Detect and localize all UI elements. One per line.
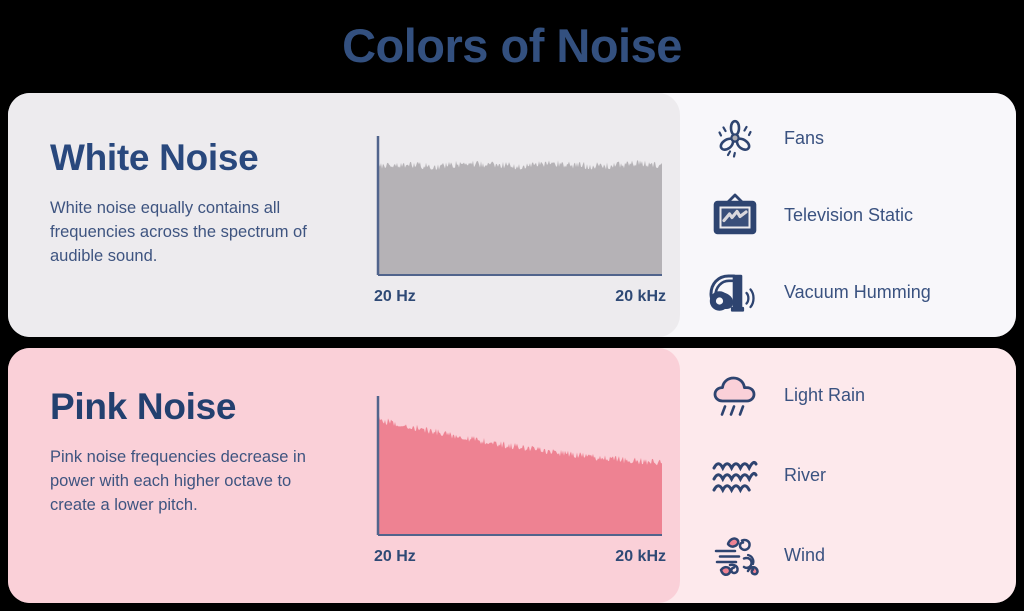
- white-noise-axis-min: 20 Hz: [374, 288, 416, 306]
- pink-noise-text-block: Pink Noise Pink noise frequencies decrea…: [50, 386, 330, 518]
- waves-icon: [698, 448, 772, 504]
- pink-noise-chart: 20 Hz 20 kHz: [374, 394, 666, 566]
- wind-icon: [698, 528, 772, 584]
- pink-noise-card: Pink Noise Pink noise frequencies decrea…: [8, 348, 1016, 603]
- white-noise-axis-labels: 20 Hz 20 kHz: [374, 288, 666, 306]
- list-item-label: Light Rain: [784, 385, 865, 406]
- white-noise-axis-max: 20 kHz: [615, 288, 666, 306]
- list-item[interactable]: Vacuum Humming: [680, 254, 1016, 331]
- white-noise-heading: White Noise: [50, 137, 330, 179]
- television-icon: [698, 187, 772, 243]
- pink-noise-area: [379, 416, 662, 534]
- pink-noise-heading: Pink Noise: [50, 386, 330, 428]
- list-item-label: River: [784, 465, 826, 486]
- list-item[interactable]: River: [680, 436, 1016, 516]
- fan-icon: [698, 110, 772, 166]
- white-noise-area: [379, 160, 662, 274]
- pink-noise-left-panel: Pink Noise Pink noise frequencies decrea…: [8, 348, 680, 603]
- pink-noise-description: Pink noise frequencies decrease in power…: [50, 446, 330, 518]
- pink-noise-sources-list: Light Rain River: [680, 348, 1016, 603]
- list-item[interactable]: Fans: [680, 100, 1016, 177]
- pink-noise-spectrum-svg: [374, 394, 666, 541]
- list-item-label: Fans: [784, 128, 824, 149]
- pink-noise-axis-min: 20 Hz: [374, 548, 416, 566]
- vacuum-icon: [698, 264, 772, 320]
- list-item[interactable]: Light Rain: [680, 356, 1016, 436]
- page-title: Colors of Noise: [0, 18, 1024, 73]
- infographic-page: Colors of Noise White Noise White noise …: [0, 0, 1024, 611]
- pink-noise-axis-max: 20 kHz: [615, 548, 666, 566]
- white-noise-left-panel: White Noise White noise equally contains…: [8, 93, 680, 337]
- white-noise-card: White Noise White noise equally contains…: [8, 93, 1016, 337]
- rain-cloud-icon: [698, 368, 772, 424]
- list-item-label: Wind: [784, 545, 825, 566]
- white-noise-text-block: White Noise White noise equally contains…: [50, 137, 330, 269]
- pink-noise-axis-labels: 20 Hz 20 kHz: [374, 548, 666, 566]
- white-noise-spectrum-svg: [374, 134, 666, 281]
- white-noise-sources-list: Fans Television Static: [680, 93, 1016, 337]
- list-item-label: Television Static: [784, 205, 913, 226]
- list-item[interactable]: Wind: [680, 516, 1016, 596]
- list-item-label: Vacuum Humming: [784, 282, 931, 303]
- white-noise-description: White noise equally contains all frequen…: [50, 197, 330, 269]
- white-noise-chart: 20 Hz 20 kHz: [374, 134, 666, 306]
- list-item[interactable]: Television Static: [680, 177, 1016, 254]
